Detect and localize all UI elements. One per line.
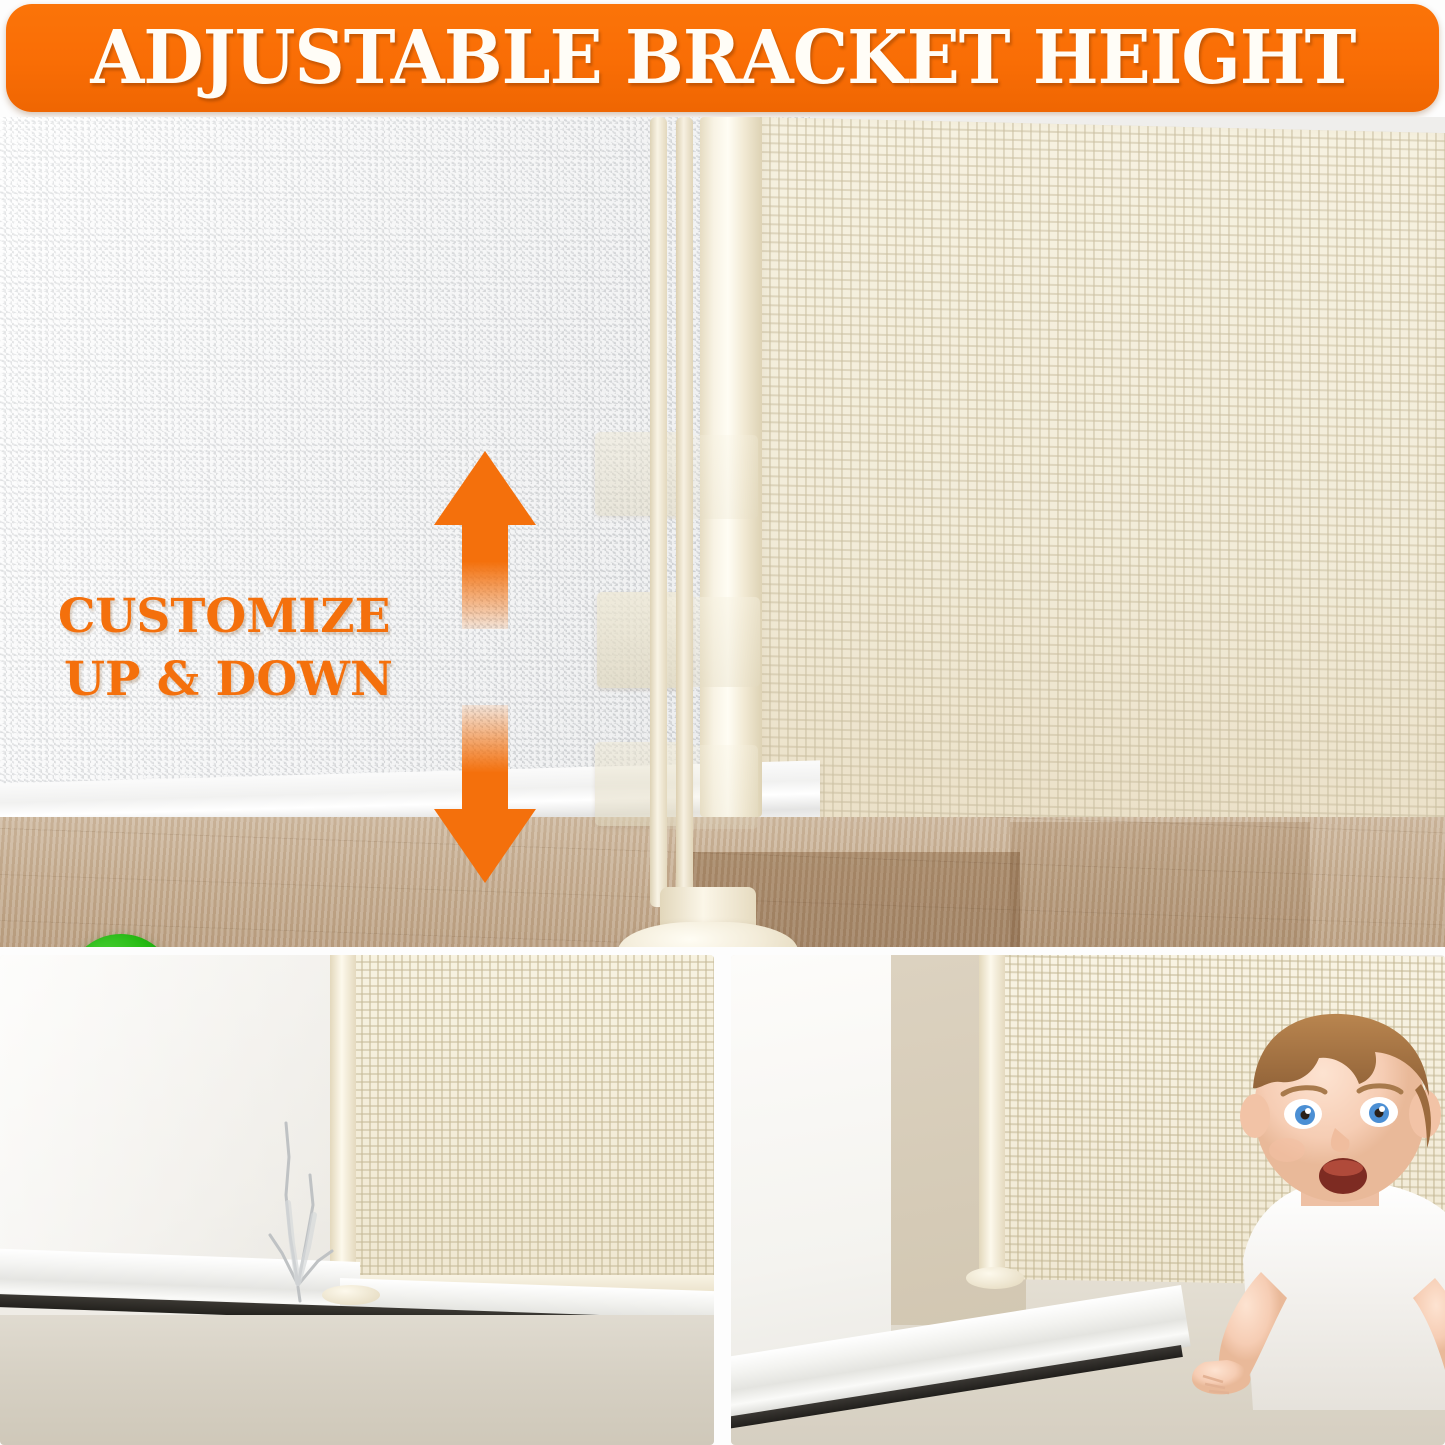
crawling-baby xyxy=(1183,1010,1445,1410)
gate-post xyxy=(979,955,1005,1285)
callout-line-2: UP & DOWN xyxy=(58,648,393,711)
floor-plank xyxy=(1010,822,1310,947)
gate-rod-right xyxy=(676,117,693,907)
comparison-panels xyxy=(0,955,1445,1445)
wall-crack-damage xyxy=(240,1075,360,1305)
product-infographic: ADJUSTABLE BRACKET HEIGHT xyxy=(0,0,1445,1445)
carpet-floor xyxy=(0,1315,714,1445)
mesh-gate-panel xyxy=(760,117,1445,873)
callout-line-1: CUSTOMIZE xyxy=(58,589,390,644)
banner-title: ADJUSTABLE BRACKET HEIGHT xyxy=(90,21,1355,95)
gate-rod-left xyxy=(650,117,667,907)
white-wall xyxy=(731,955,891,1385)
customize-callout: CUSTOMIZE UP & DOWN xyxy=(58,585,393,712)
arrow-up-icon xyxy=(430,447,540,632)
gate-foot-base xyxy=(966,1267,1024,1289)
gap-under-gate-panel xyxy=(731,955,1445,1445)
arrow-down-icon xyxy=(430,702,540,887)
wall-damage-panel xyxy=(0,955,714,1445)
header-banner: ADJUSTABLE BRACKET HEIGHT xyxy=(6,4,1439,112)
hero-panel: CUSTOMIZE UP & DOWN xyxy=(0,117,1445,947)
mesh-gate-panel xyxy=(345,955,714,1295)
